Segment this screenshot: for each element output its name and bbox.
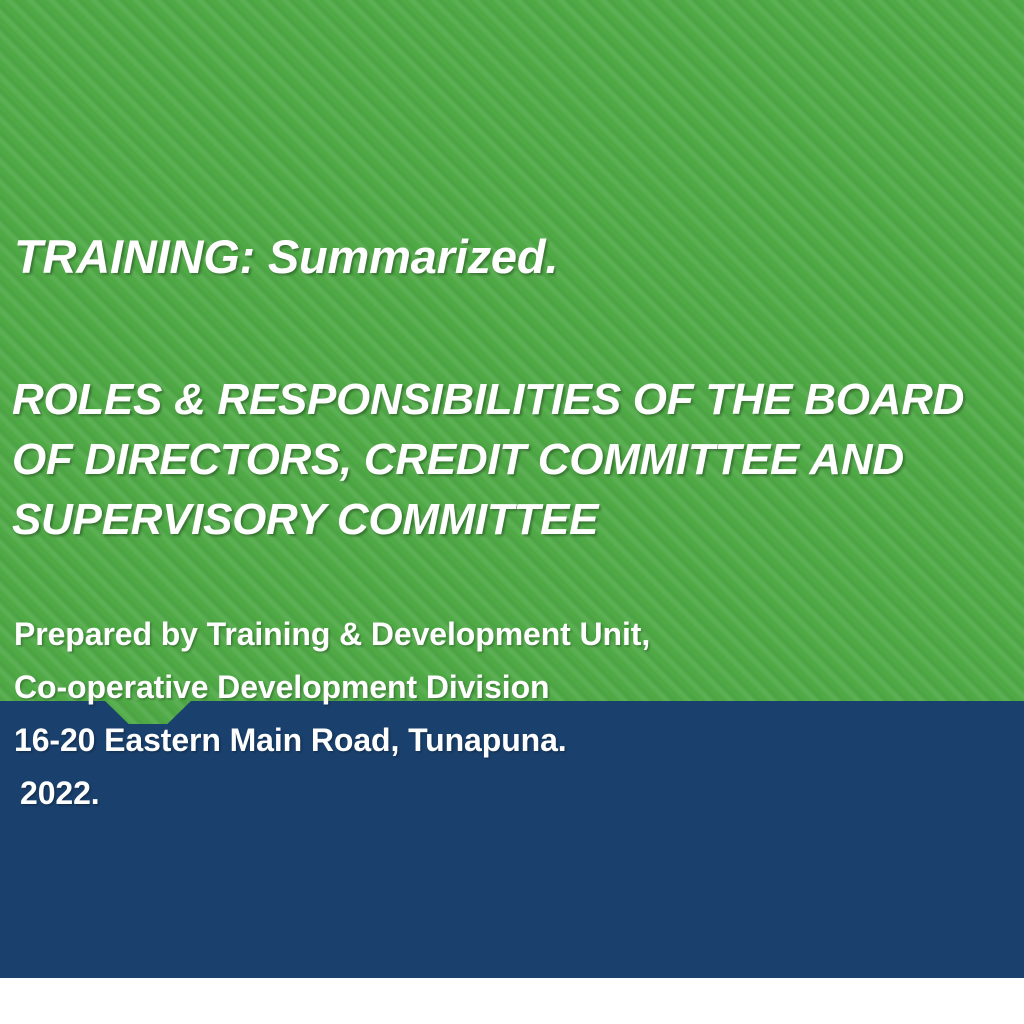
slide-text-layer: TRAINING: Summarized. ROLES & RESPONSIBI… (0, 0, 1024, 1024)
slide-credits-block: Prepared by Training & Development Unit,… (14, 608, 1014, 820)
credits-line-prepared-by: Prepared by Training & Development Unit, (14, 608, 1014, 661)
credits-line-address: 16-20 Eastern Main Road, Tunapuna. (14, 714, 1014, 767)
slide-subject-title: ROLES & RESPONSIBILITIES OF THE BOARD OF… (12, 370, 1022, 550)
credits-line-year: 2022. (14, 767, 1014, 820)
credits-line-division: Co-operative Development Division (14, 661, 1014, 714)
presentation-slide: TRAINING: Summarized. ROLES & RESPONSIBI… (0, 0, 1024, 1024)
slide-headline: TRAINING: Summarized. (14, 228, 1014, 286)
